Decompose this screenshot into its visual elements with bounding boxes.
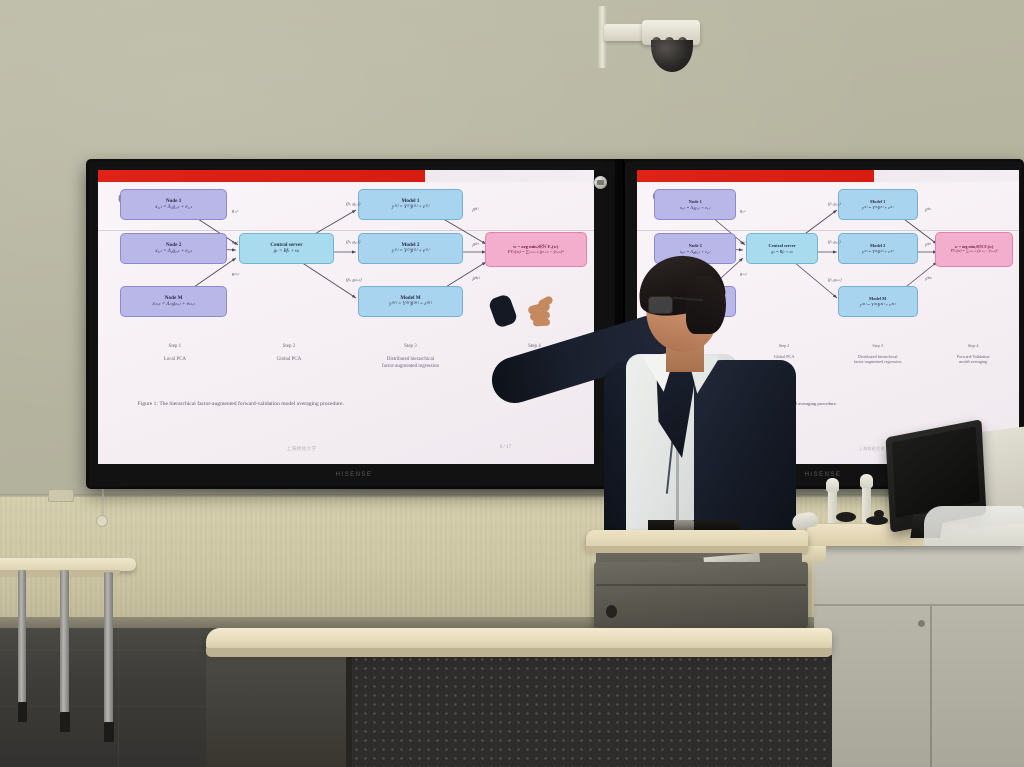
step-text: Global PCA (277, 357, 302, 362)
diagram-node-model2: Model 2 y⁽²⁾ = Y⁽²⁾β⁽²⁾ + ε⁽²⁾ (358, 233, 462, 264)
node-equation: gₜ = Bfₜ + uₜ (240, 249, 332, 255)
equipment-box-seam (596, 584, 806, 586)
edge-label: (fₜ, g₁,ₜ) (346, 201, 360, 207)
edge-label: gₘ,ₜ (232, 271, 240, 277)
cabinet-knob[interactable] (918, 620, 925, 627)
edge-label: β̂⁽ᴹ⁾ (925, 276, 931, 281)
ceiling-dome-camera (598, 4, 708, 86)
figure-caption: Figure 1: The hierarchical factor-augmen… (138, 401, 344, 407)
step-label-2: Step 2 Global PCA (242, 338, 336, 364)
step-text: Distributed hierarchical factor-augmente… (382, 357, 439, 369)
step-number: Step 3 (404, 344, 417, 349)
diagram-node-modelM: Model M y⁽ᴹ⁾ = Y⁽ᴹ⁾β⁽ᴹ⁾ + ε⁽ᴹ⁾ (838, 286, 918, 317)
edge-label: β̂⁽¹⁾ (925, 207, 930, 212)
lectern-glass-shield (924, 506, 1024, 546)
desk-leg (104, 572, 113, 740)
presenter-hair-back (686, 276, 726, 334)
cabinet-seam (814, 604, 1024, 606)
diagram-node-nodeM: Node M xₘ,ₜ = Λₘgₘ,ₜ + eₘ,ₜ (120, 286, 227, 317)
node-equation: y⁽²⁾ = Y⁽²⁾β⁽²⁾ + ε⁽²⁾ (839, 249, 917, 254)
step-number: Step 1 (169, 344, 182, 349)
diagram-node-node1: Node 1 x₁,ₜ = Λ₁g₁,ₜ + e₁,ₜ (120, 189, 227, 220)
table-underside (206, 652, 352, 767)
cable-knob (96, 515, 108, 527)
camera-dome-lens (651, 40, 693, 72)
glasses-lens-icon (648, 296, 673, 314)
diagram-node-model2: Model 2 y⁽²⁾ = Y⁽²⁾β⁽²⁾ + ε⁽²⁾ (838, 233, 918, 264)
edge-label: (fₜ, g₂,ₜ) (346, 239, 360, 245)
diagram-node-node1: Node 1 x₁,ₜ = Λ₁g₁,ₜ + e₁,ₜ (654, 189, 736, 220)
step-text: Forward-Validation model averaging (957, 354, 990, 364)
edge-label: g₁,ₜ (740, 208, 746, 213)
av-equipment-box (594, 562, 808, 628)
edge-label: g₂,ₜ (740, 239, 746, 244)
desk-leg (18, 570, 26, 720)
node-equation: x₁,ₜ = Λ₁g₁,ₜ + e₁,ₜ (655, 205, 735, 210)
diagram-node-result: w = arg minᵥ∈ℋ Fᵥ(w) FVₙ(w) = ∑ₜ₌ₙ₋ₕ (yₜ… (935, 232, 1013, 267)
step-text: Local PCA (164, 357, 186, 362)
cable-coil (874, 510, 884, 518)
microphone-head (826, 478, 839, 492)
presenter-hand (528, 298, 562, 330)
edge-label: (fₜ, gₘ,ₜ) (346, 277, 362, 283)
slide-footer-logo: 上海财经大学 (859, 446, 885, 452)
monitor-screen[interactable] (892, 426, 980, 518)
node-equation: y⁽¹⁾ = Y⁽¹⁾β⁽¹⁾ + ε⁽¹⁾ (359, 205, 461, 211)
node-equation: y⁽ᴹ⁾ = Y⁽ᴹ⁾β⁽ᴹ⁾ + ε⁽ᴹ⁾ (839, 302, 917, 307)
edge-label: β̂⁽ᴹ⁾ (472, 276, 479, 282)
edge-label: g₂,ₜ (232, 239, 238, 245)
diagram-node-central-server: Central server gₜ = Bfₜ + uₜ (239, 233, 333, 264)
presenter (498, 250, 798, 555)
microphone-head (860, 474, 873, 488)
step-number: Step 2 (283, 344, 296, 349)
front-table-edge (206, 648, 832, 657)
wall-outlet (48, 489, 74, 502)
front-table (206, 628, 832, 650)
lecture-room-scene: Our method (0, 0, 1024, 767)
desk-leg-foot (104, 722, 114, 742)
av-cabinet-right (814, 546, 1024, 767)
equipment-box-port (606, 605, 617, 618)
step-label-4: Step 4 Forward-Validation model averagin… (931, 338, 1015, 365)
node-equation: xₘ,ₜ = Λₘgₘ,ₜ + eₘ,ₜ (121, 302, 226, 308)
slide-footer-logo: 上海财经大学 (286, 446, 316, 452)
edge-label: (fₜ, g₁,ₜ) (828, 201, 841, 206)
node-equation: x₁,ₜ = Λ₁g₁,ₜ + e₁,ₜ (121, 205, 226, 211)
node-equation: x₂,ₜ = Λ₂g₂,ₜ + e₂,ₜ (121, 249, 226, 255)
edge-label: β̂⁽²⁾ (925, 242, 930, 247)
diagram-node-model1: Model 1 y⁽¹⁾ = Y⁽¹⁾β⁽¹⁾ + ε⁽¹⁾ (358, 189, 462, 220)
edge-label: (fₜ, g₂,ₜ) (828, 239, 841, 244)
display-brand-label: HISENSE (805, 472, 842, 478)
step-label-3: Step 3 Distributed hierarchical factor-a… (828, 338, 927, 365)
display-sensor-icon[interactable] (594, 176, 607, 189)
step-label-3: Step 3 Distributed hierarchical factor-a… (346, 338, 475, 371)
edge-label: (fₜ, gₘ,ₜ) (828, 277, 842, 282)
edge-label: β̂⁽¹⁾ (472, 207, 478, 213)
desk-leg-foot (60, 712, 70, 732)
step-number: Step 3 (872, 343, 883, 348)
diagram-node-modelM: Model M y⁽ᴹ⁾ = Y⁽ᴹ⁾β⁽ᴹ⁾ + ε⁽ᴹ⁾ (358, 286, 462, 317)
node-equation: FVₙ(w) = ∑ₜ₌ₙ₋ₕ (yₜ₊ₕ − ŷₜ₊ₕ)² (936, 249, 1012, 254)
desk-leg-foot (18, 702, 27, 722)
perforated-grille-panel (352, 655, 832, 767)
step-label-1: Step 1 Local PCA (123, 338, 227, 364)
cabinet-door-gap (930, 606, 932, 767)
step-number: Step 4 (968, 343, 979, 348)
node-equation: y⁽²⁾ = Y⁽²⁾β⁽²⁾ + ε⁽²⁾ (359, 249, 461, 255)
edge-label: g₁,ₜ (232, 208, 238, 214)
node-equation: y⁽¹⁾ = Y⁽¹⁾β⁽¹⁾ + ε⁽¹⁾ (839, 205, 917, 210)
display-brand-label: HISENSE (336, 472, 373, 478)
desk-leg (60, 570, 69, 730)
step-text: Distributed hierarchical factor-augmente… (854, 354, 902, 364)
node-equation: y⁽ᴹ⁾ = Y⁽ᴹ⁾β⁽ᴹ⁾ + ε⁽ᴹ⁾ (359, 302, 461, 308)
edge-label: β̂⁽²⁾ (472, 242, 478, 248)
cable-coil (836, 512, 856, 522)
diagram-node-model1: Model 1 y⁽¹⁾ = Y⁽¹⁾β⁽¹⁾ + ε⁽¹⁾ (838, 189, 918, 220)
diagram-node-node2: Node 2 x₂,ₜ = Λ₂g₂,ₜ + e₂,ₜ (120, 233, 227, 264)
